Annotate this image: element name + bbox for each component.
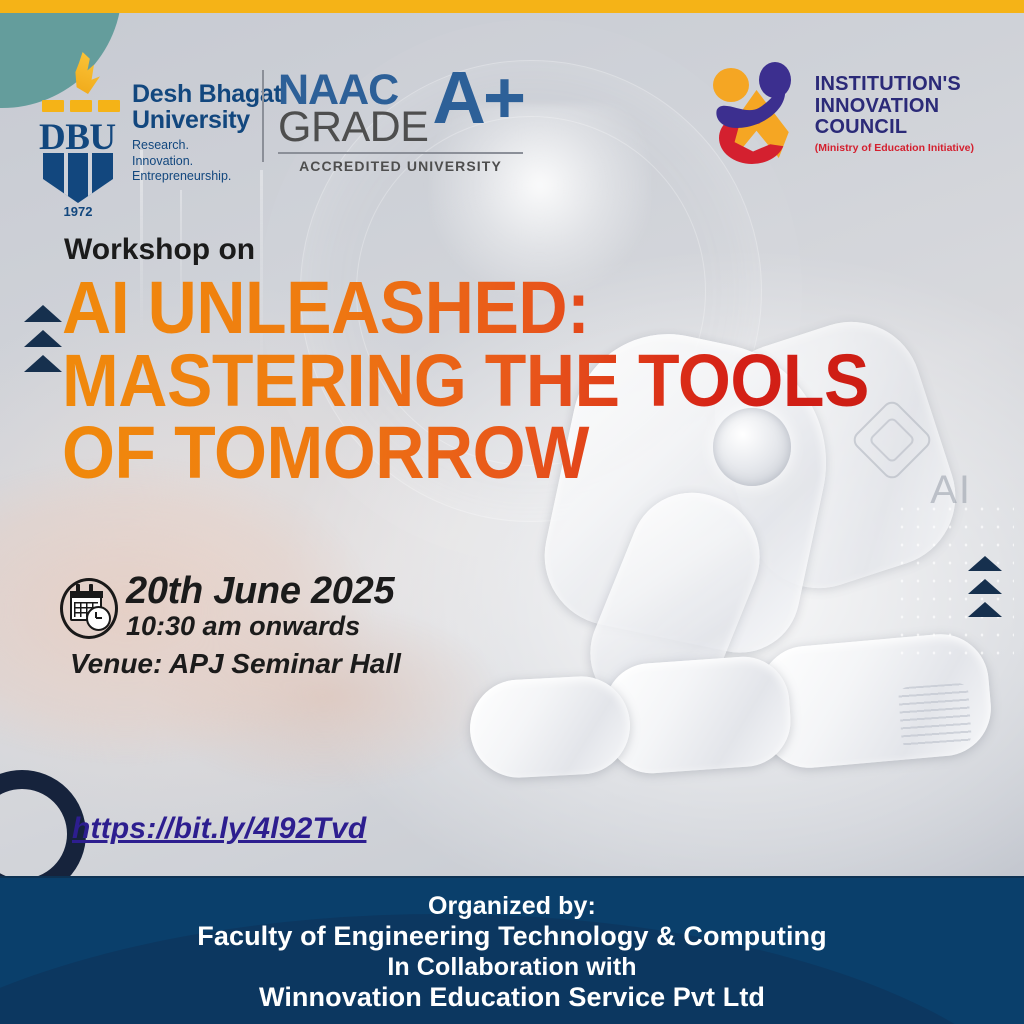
dbu-founded-year: 1972: [30, 204, 126, 219]
naac-grade-logo: NAAC GRADE A+ ACCREDITED UNIVERSITY: [278, 72, 523, 174]
dbu-abbrev: DBU: [39, 116, 116, 159]
collaboration-label: In Collaboration with: [0, 953, 1024, 982]
organizer-faculty: Faculty of Engineering Technology & Comp…: [0, 921, 1024, 953]
title-line-2: MASTERING THE TOOLS: [62, 345, 872, 418]
naac-subtitle: ACCREDITED UNIVERSITY: [278, 158, 523, 174]
poster-header: DBU 1972 Desh Bhagat University Research…: [0, 0, 1024, 200]
dbu-tagline: Research. Innovation. Entrepreneurship.: [132, 138, 282, 185]
dbu-tagline-line-3: Entrepreneurship.: [132, 169, 282, 185]
iic-line-3: COUNCIL: [815, 117, 974, 139]
dbu-logo: DBU 1972 Desh Bhagat University Research…: [30, 52, 282, 202]
dbu-emblem: DBU 1972: [30, 52, 126, 202]
clock-icon: [86, 606, 111, 631]
iic-logo: INSTITUTION'S INNOVATION COUNCIL (Minist…: [709, 62, 974, 166]
header-divider: [262, 70, 264, 162]
title-line-1: AI UNLEASHED:: [62, 272, 872, 345]
event-time: 10:30 am onwards: [126, 612, 394, 640]
dbu-dash-row: [42, 100, 120, 112]
naac-rule: [278, 152, 523, 154]
shield-icon: [43, 153, 113, 203]
iic-emblem-icon: [709, 62, 805, 166]
dash-icon: [42, 100, 64, 112]
dash-icon: [70, 100, 92, 112]
iic-yellow-dot: [713, 68, 749, 102]
dbu-name-line-1: Desh Bhagat: [132, 82, 282, 108]
organizer-text-block: Organized by: Faculty of Engineering Tec…: [0, 878, 1024, 1014]
naac-grade-value: A+: [432, 68, 523, 127]
iic-wordmark: INSTITUTION'S INNOVATION COUNCIL (Minist…: [815, 74, 974, 154]
dbu-name-line-2: University: [132, 108, 282, 134]
iic-line-2: INNOVATION: [815, 96, 974, 118]
event-datetime-block: 20th June 2025 10:30 am onwards: [58, 572, 394, 640]
dash-icon: [98, 100, 120, 112]
iic-ministry-note: (Ministry of Education Initiative): [815, 142, 974, 154]
organizer-banner: Organized by: Faculty of Engineering Tec…: [0, 876, 1024, 1024]
calendar-clock-icon: [58, 576, 116, 638]
dbu-tagline-line-2: Innovation.: [132, 154, 282, 170]
naac-wordmark: NAAC GRADE: [278, 72, 428, 146]
datetime-text: 20th June 2025 10:30 am onwards: [126, 572, 394, 640]
event-poster: AI DBU 1972: [0, 0, 1024, 1024]
iic-line-1: INSTITUTION'S: [815, 74, 974, 96]
page-title: AI UNLEASHED: MASTERING THE TOOLS OF TOM…: [62, 272, 872, 490]
dbu-wordmark: Desh Bhagat University Research. Innovat…: [132, 82, 282, 185]
flame-icon: [70, 52, 100, 94]
dbu-tagline-line-1: Research.: [132, 138, 282, 154]
organizer-label: Organized by:: [0, 892, 1024, 921]
registration-link[interactable]: https://bit.ly/4l92Tvd: [72, 812, 366, 846]
event-venue: Venue: APJ Seminar Hall: [70, 648, 401, 680]
eyebrow-text: Workshop on: [64, 233, 255, 267]
title-line-3: OF TOMORROW: [62, 417, 872, 490]
collaborator-name: Winnovation Education Service Pvt Ltd: [0, 982, 1024, 1014]
naac-grade-label: GRADE: [278, 109, 428, 146]
iic-blue-dot: [759, 62, 791, 98]
event-date: 20th June 2025: [126, 572, 394, 610]
